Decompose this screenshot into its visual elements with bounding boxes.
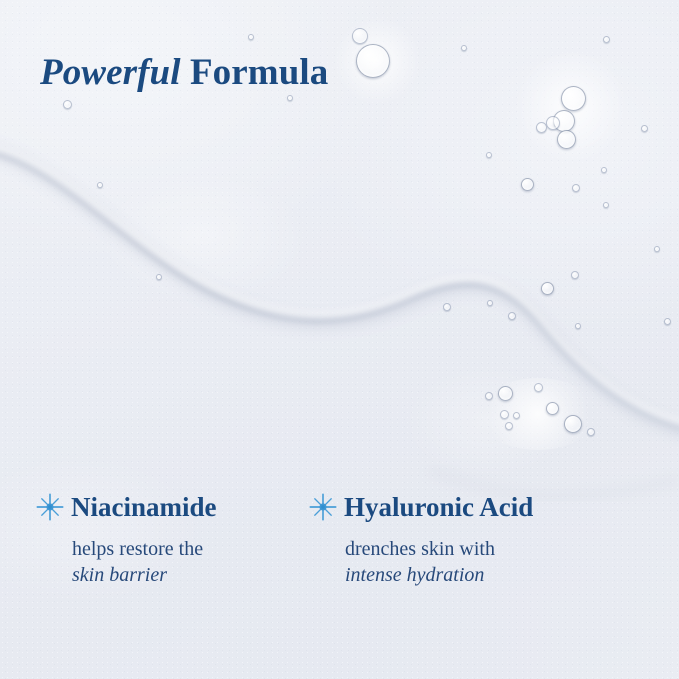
bubble [513, 412, 520, 419]
bubble [603, 36, 610, 43]
ingredient-description: drenches skin with intense hydration [345, 536, 533, 589]
bubble [564, 415, 582, 433]
bubble [352, 28, 368, 44]
bubble [356, 44, 390, 78]
bubble [508, 312, 516, 320]
bubble [500, 410, 509, 419]
bubble [63, 100, 72, 109]
bubble [572, 184, 580, 192]
ingredient-description-line1: helps restore the [72, 536, 217, 562]
sparkle-icon [36, 493, 64, 521]
bubble [654, 246, 660, 252]
bubble [498, 386, 513, 401]
ingredient-heading-row: Hyaluronic Acid [309, 487, 533, 527]
bubble [248, 34, 254, 40]
bubble [664, 318, 671, 325]
bubble [561, 86, 586, 111]
bubble [156, 274, 162, 280]
bubble [575, 323, 581, 329]
page-title-rest: Formula [181, 52, 329, 93]
ingredient-item-niacinamide: Niacinamide helps restore the skin barri… [36, 487, 217, 589]
bubble [443, 303, 451, 311]
bubble [521, 178, 534, 191]
bubble [461, 45, 467, 51]
bubble [546, 402, 559, 415]
page-title-emphasis: Powerful [40, 52, 181, 93]
ingredient-description: helps restore the skin barrier [72, 536, 217, 589]
bubble [536, 122, 547, 133]
bubble [587, 428, 595, 436]
ingredient-description-line2: intense hydration [345, 562, 533, 588]
bubble [603, 202, 609, 208]
bubble [486, 152, 492, 158]
bubble [97, 182, 103, 188]
ingredient-name: Niacinamide [71, 494, 217, 521]
sparkle-icon [309, 493, 337, 521]
bubble [505, 422, 513, 430]
page-title: Powerful Formula [40, 51, 328, 95]
ingredient-description-line1: drenches skin with [345, 536, 533, 562]
bubble [571, 271, 579, 279]
product-feature-banner: Powerful Formula Niacinamide [0, 0, 679, 679]
ingredient-item-hyaluronic-acid: Hyaluronic Acid drenches skin with inten… [309, 487, 533, 589]
bubble [485, 392, 493, 400]
bubble [601, 167, 607, 173]
bubble [487, 300, 493, 306]
bubble [287, 95, 293, 101]
bubble [541, 282, 554, 295]
ingredient-description-line2: skin barrier [72, 562, 217, 588]
bubble [557, 130, 576, 149]
bubble [641, 125, 648, 132]
ingredient-name: Hyaluronic Acid [344, 494, 533, 521]
bubble [534, 383, 543, 392]
bubble [546, 116, 560, 130]
ingredient-heading-row: Niacinamide [36, 487, 217, 527]
ingredient-list: Niacinamide helps restore the skin barri… [0, 487, 679, 607]
